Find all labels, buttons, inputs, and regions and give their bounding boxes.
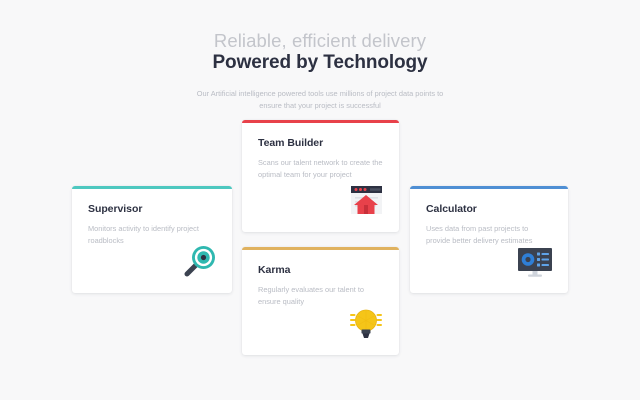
feature-card-calculator[interactable]: Calculator Uses data from past projects … bbox=[410, 186, 568, 293]
card-accent-bar bbox=[410, 186, 568, 189]
browser-home-icon bbox=[345, 179, 387, 221]
card-accent-bar bbox=[72, 186, 232, 189]
feature-card-supervisor[interactable]: Supervisor Monitors activity to identify… bbox=[72, 186, 232, 293]
card-title: Calculator bbox=[426, 203, 552, 216]
magnifying-glass-icon bbox=[178, 240, 220, 282]
card-title: Supervisor bbox=[88, 203, 216, 216]
card-accent-bar bbox=[242, 247, 399, 250]
header-subhead: Our Artificial intelligence powered tool… bbox=[195, 88, 445, 111]
monitor-dashboard-icon bbox=[514, 240, 556, 282]
card-description: Scans our talent network to create the o… bbox=[258, 157, 383, 180]
feature-card-karma[interactable]: Karma Regularly evaluates our talent to … bbox=[242, 247, 399, 355]
page-title: Powered by Technology bbox=[0, 52, 640, 74]
lightbulb-icon bbox=[345, 302, 387, 344]
card-title: Karma bbox=[258, 264, 383, 277]
card-accent-bar bbox=[242, 120, 399, 123]
card-body: Team Builder Scans our talent network to… bbox=[242, 120, 399, 180]
card-body: Calculator Uses data from past projects … bbox=[410, 186, 568, 246]
header-eyebrow: Reliable, efficient delivery bbox=[0, 30, 640, 51]
card-body: Supervisor Monitors activity to identify… bbox=[72, 186, 232, 246]
card-body: Karma Regularly evaluates our talent to … bbox=[242, 247, 399, 307]
card-title: Team Builder bbox=[258, 137, 383, 150]
page-header: Reliable, efficient delivery Powered by … bbox=[0, 30, 640, 111]
feature-card-team-builder[interactable]: Team Builder Scans our talent network to… bbox=[242, 120, 399, 232]
